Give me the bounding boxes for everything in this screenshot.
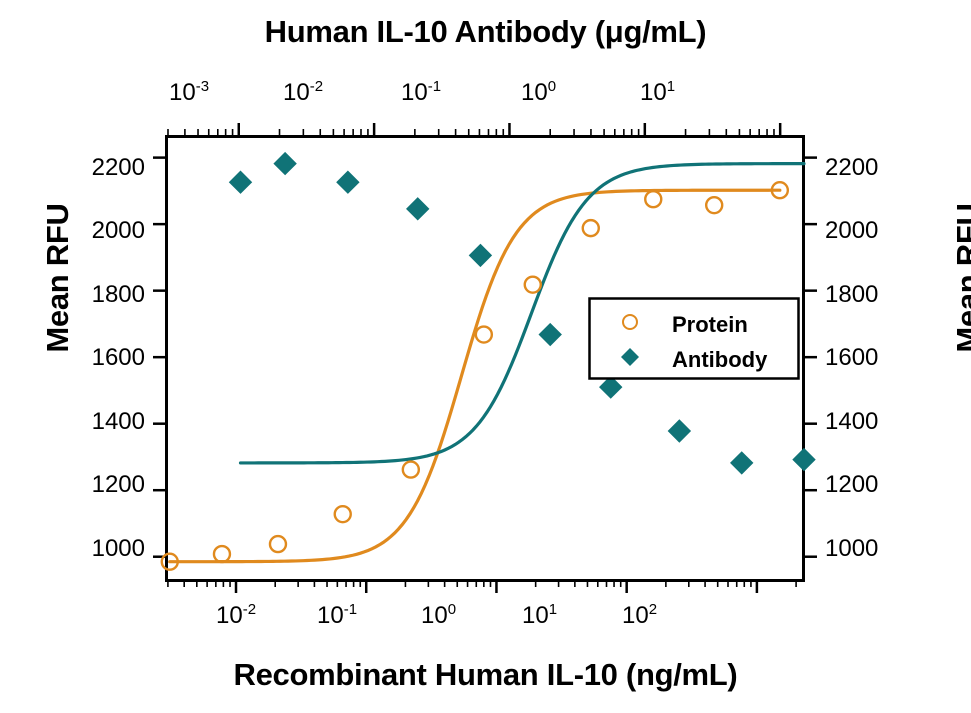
- legend-label-antibody: Antibody: [672, 347, 767, 373]
- data-point-protein: [270, 536, 286, 552]
- plot-area: [0, 0, 971, 713]
- data-point-protein: [335, 506, 351, 522]
- data-point-protein: [214, 546, 230, 562]
- data-point-antibody: [731, 452, 753, 474]
- legend-label-protein: Protein: [672, 312, 748, 338]
- data-point-antibody: [469, 244, 491, 266]
- data-point-antibody: [230, 171, 252, 193]
- data-point-protein: [476, 327, 492, 343]
- data-point-antibody: [793, 449, 815, 471]
- data-point-protein: [645, 191, 661, 207]
- data-point-protein: [525, 277, 541, 293]
- data-point-antibody: [274, 153, 296, 175]
- data-point-antibody: [407, 198, 429, 220]
- data-point-antibody: [668, 420, 690, 442]
- data-point-antibody: [337, 171, 359, 193]
- data-point-protein: [583, 220, 599, 236]
- data-point-antibody: [539, 324, 561, 346]
- data-point-protein: [403, 462, 419, 478]
- figure-container: Human IL-10 Antibody (μg/mL) Recombinant…: [0, 0, 971, 713]
- data-point-protein: [706, 197, 722, 213]
